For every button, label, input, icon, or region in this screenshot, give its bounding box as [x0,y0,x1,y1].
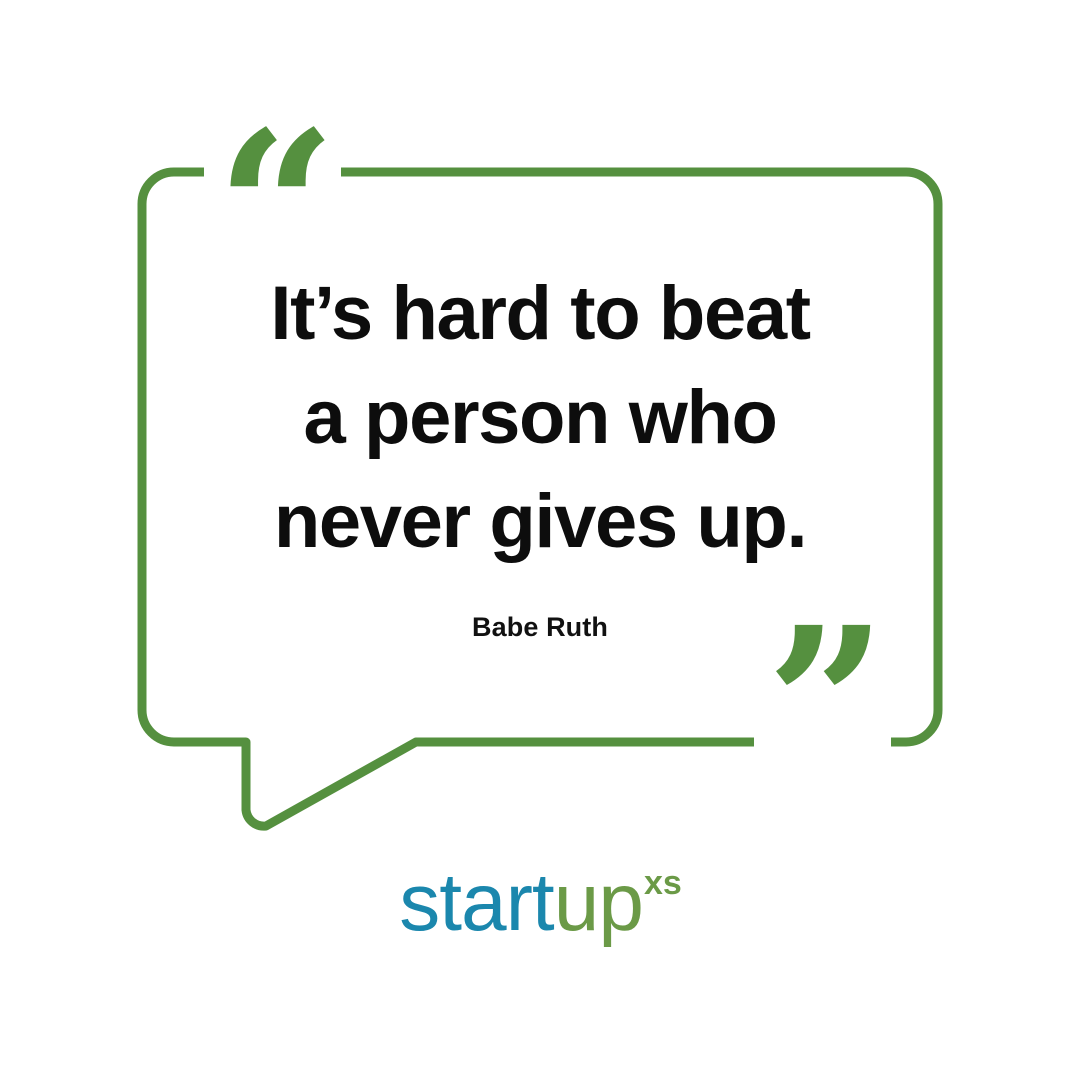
quote-line-1: It’s hard to beat [142,262,938,366]
logo-text-start: start [399,857,553,948]
quote-attribution: Babe Ruth [142,612,938,643]
quote-line-3: never gives up. [142,470,938,574]
poster-canvas: “ ” It’s hard to beat a person who never… [0,0,1080,1080]
logo-text-up: up [554,857,643,948]
logo-text-xs: xs [644,864,682,902]
quote-text: It’s hard to beat a person who never giv… [142,262,938,574]
quote-line-2: a person who [142,366,938,470]
brand-logo: startupxs [0,862,1080,944]
